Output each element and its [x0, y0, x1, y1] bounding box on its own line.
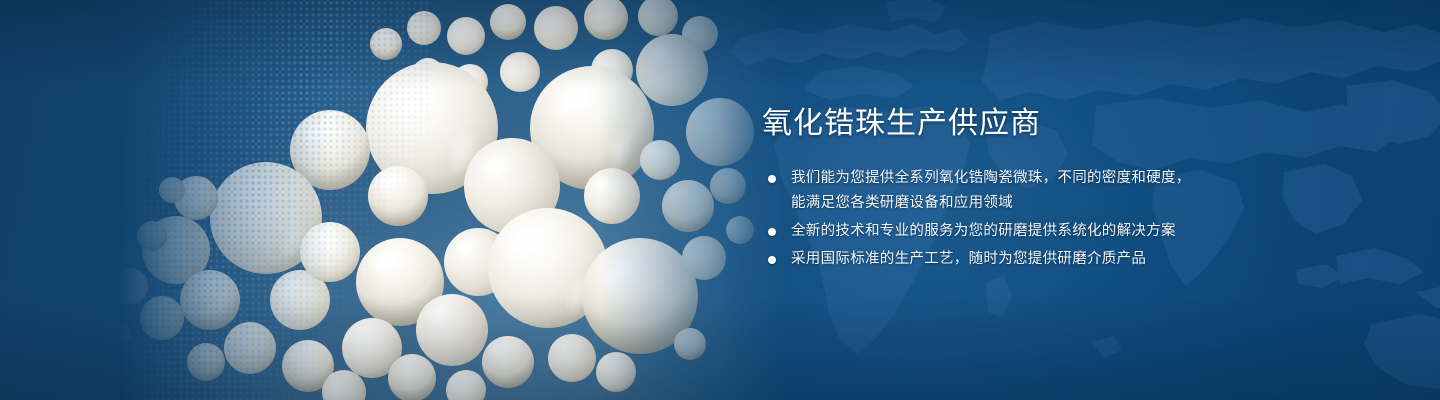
hero-banner: 氧化锆珠生产供应商 我们能为您提供全系列氧化锆陶瓷微珠，不同的密度和硬度， 能满… [0, 0, 1440, 400]
bullet-line: 我们能为您提供全系列氧化锆陶瓷微珠，不同的密度和硬度， [791, 166, 1282, 191]
list-item: 采用国际标准的生产工艺，随时为您提供研磨介质产品 [762, 247, 1282, 272]
banner-copy: 氧化锆珠生产供应商 我们能为您提供全系列氧化锆陶瓷微珠，不同的密度和硬度， 能满… [762, 104, 1282, 275]
bullet-line: 采用国际标准的生产工艺，随时为您提供研磨介质产品 [791, 247, 1282, 272]
feature-bullet-list: 我们能为您提供全系列氧化锆陶瓷微珠，不同的密度和硬度， 能满足您各类研磨设备和应… [762, 166, 1282, 272]
list-item: 全新的技术和专业的服务为您的研磨提供系统化的解决方案 [762, 219, 1282, 244]
bullet-dot-icon [768, 256, 776, 264]
bullet-dot-icon [768, 228, 776, 236]
list-item: 我们能为您提供全系列氧化锆陶瓷微珠，不同的密度和硬度， 能满足您各类研磨设备和应… [762, 166, 1282, 216]
bullet-dot-icon [768, 175, 776, 183]
banner-headline: 氧化锆珠生产供应商 [762, 104, 1282, 144]
bullet-line: 全新的技术和专业的服务为您的研磨提供系统化的解决方案 [791, 219, 1282, 244]
bullet-line-continued: 能满足您各类研磨设备和应用领域 [791, 191, 1282, 216]
